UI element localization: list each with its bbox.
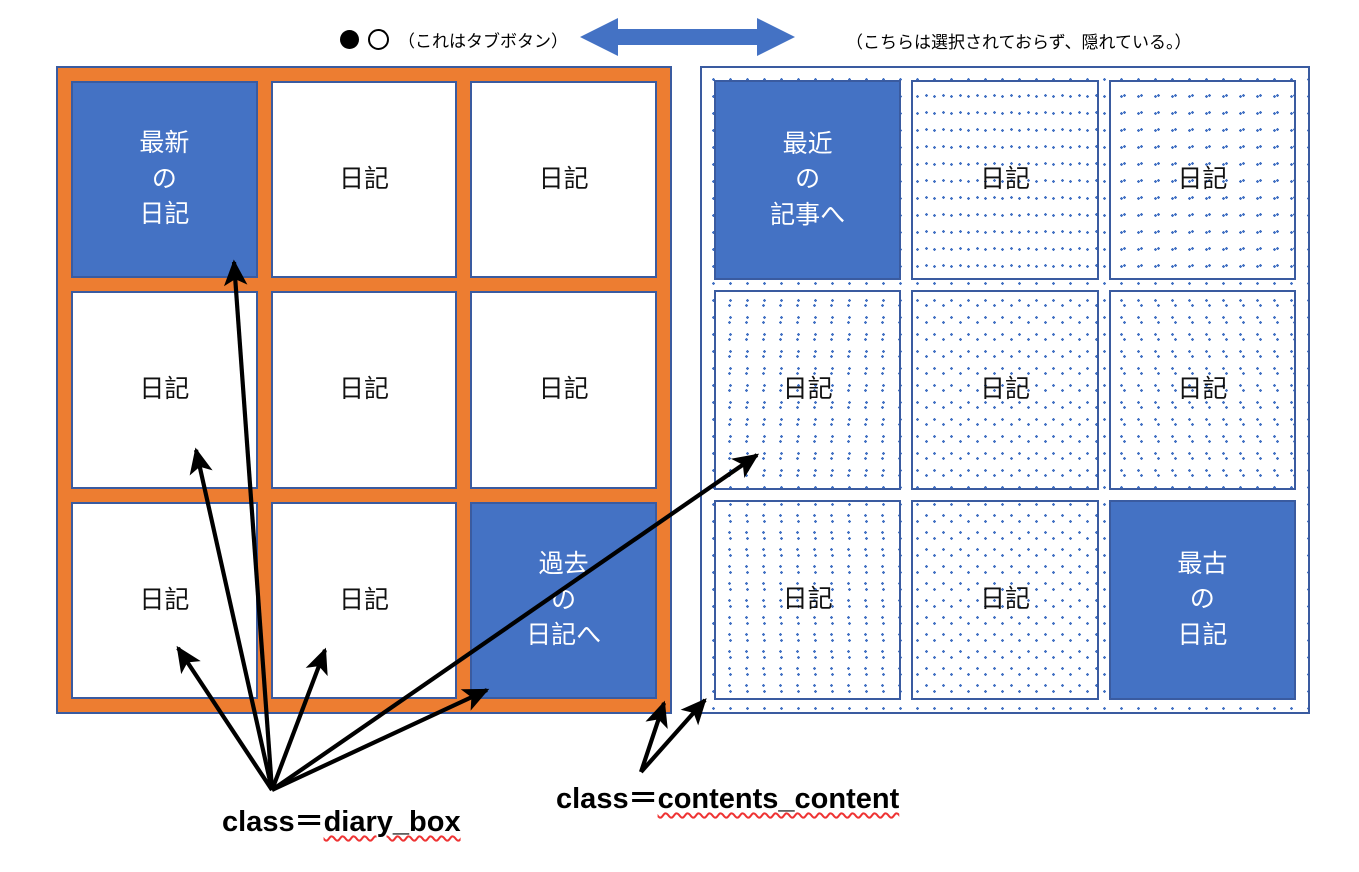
- diary-box-2[interactable]: 日記: [470, 81, 657, 278]
- cell-label: 日記: [1177, 372, 1227, 408]
- hidden-box-2[interactable]: 日記: [1109, 80, 1296, 280]
- header-row: （これはタブボタン） （こちらは選択されておらず、隠れている。）: [0, 0, 1359, 62]
- annotation-label-contents-content: class＝contents_content: [556, 775, 899, 817]
- cell-label: 日記: [539, 162, 589, 198]
- annotation-value: contents_content: [658, 783, 900, 815]
- hidden-box-6[interactable]: 日記: [714, 500, 901, 700]
- diary-box-4[interactable]: 日記: [271, 291, 458, 488]
- tab-inactive-dot-icon[interactable]: [368, 29, 389, 50]
- diary-box-newest[interactable]: 最新の日記: [71, 81, 258, 278]
- tab-active-dot-icon[interactable]: [340, 30, 359, 49]
- cell-label: 日記: [783, 582, 833, 618]
- cell-label: 過去の日記へ: [526, 547, 601, 654]
- hidden-diary-grid: 最近の記事へ 日記 日記 日記 日記 日記 日記 日記 最古の日記: [714, 80, 1296, 700]
- cell-label: 最新の日記: [139, 126, 189, 233]
- cell-label: 日記: [980, 372, 1030, 408]
- hidden-box-3[interactable]: 日記: [714, 290, 901, 490]
- cell-label: 日記: [139, 372, 189, 408]
- hidden-box-1[interactable]: 日記: [911, 80, 1098, 280]
- cell-label: 日記: [139, 583, 189, 619]
- hidden-box-recent-link[interactable]: 最近の記事へ: [714, 80, 901, 280]
- double-headed-arrow-icon: [580, 18, 795, 56]
- diary-box-7[interactable]: 日記: [271, 502, 458, 699]
- cell-label: 最古の日記: [1177, 547, 1227, 654]
- diary-box-6[interactable]: 日記: [71, 502, 258, 699]
- hidden-box-7[interactable]: 日記: [911, 500, 1098, 700]
- tab-button-note-label: （これはタブボタン）: [398, 27, 568, 52]
- cell-label: 日記: [783, 372, 833, 408]
- hidden-box-oldest[interactable]: 最古の日記: [1109, 500, 1296, 700]
- diary-box-3[interactable]: 日記: [71, 291, 258, 488]
- annotation-value: diary_box: [324, 806, 461, 838]
- cell-label: 日記: [539, 372, 589, 408]
- hidden-box-5[interactable]: 日記: [1109, 290, 1296, 490]
- diary-box-5[interactable]: 日記: [470, 291, 657, 488]
- hidden-panel-note-label: （こちらは選択されておらず、隠れている。）: [846, 28, 1191, 53]
- tab-button-legend: （これはタブボタン）: [340, 27, 568, 52]
- cell-label: 最近の記事へ: [770, 127, 845, 234]
- cell-label: 日記: [339, 583, 389, 619]
- annotation-prefix: class＝: [222, 806, 324, 838]
- cell-label: 日記: [339, 372, 389, 408]
- cell-label: 日記: [980, 162, 1030, 198]
- cell-label: 日記: [1177, 162, 1227, 198]
- cell-label: 日記: [339, 162, 389, 198]
- annotation-label-diary-box: class＝diary_box: [222, 798, 461, 840]
- diary-box-past-link[interactable]: 過去の日記へ: [470, 502, 657, 699]
- annotation-prefix: class＝: [556, 783, 658, 815]
- hidden-box-4[interactable]: 日記: [911, 290, 1098, 490]
- cell-label: 日記: [980, 582, 1030, 618]
- diary-grid: 最新の日記 日記 日記 日記 日記 日記 日記 日記 過去の日記へ: [71, 81, 657, 699]
- visible-diary-grid-panel[interactable]: 最新の日記 日記 日記 日記 日記 日記 日記 日記 過去の日記へ: [56, 66, 672, 714]
- diary-box-1[interactable]: 日記: [271, 81, 458, 278]
- hidden-diary-grid-panel[interactable]: 最近の記事へ 日記 日記 日記 日記 日記 日記 日記 最古の日記: [700, 66, 1310, 714]
